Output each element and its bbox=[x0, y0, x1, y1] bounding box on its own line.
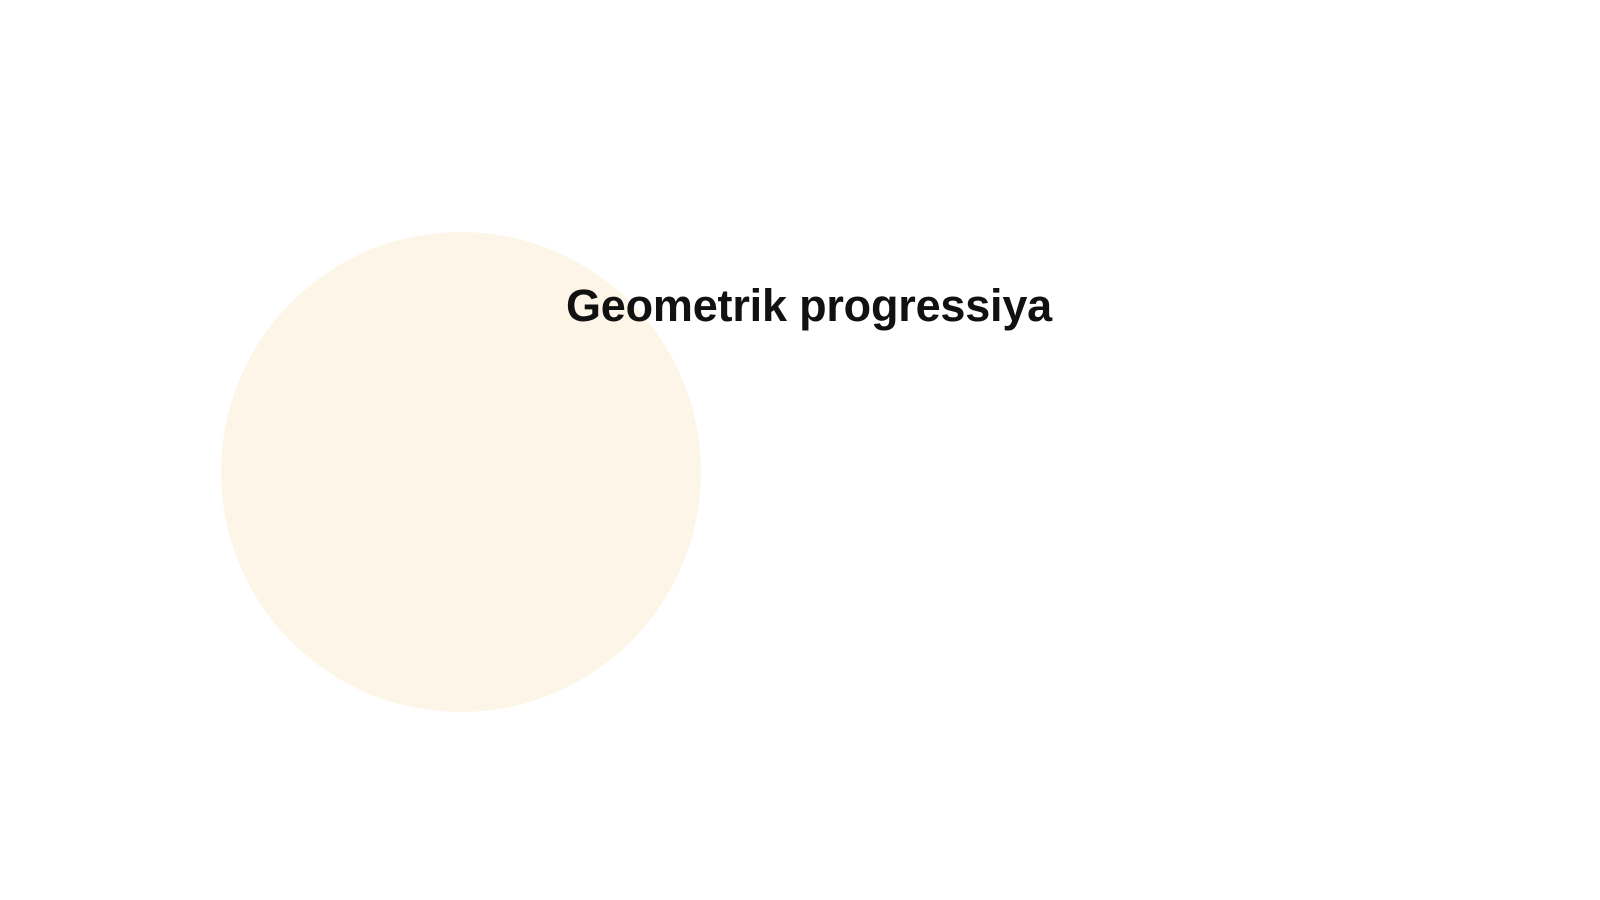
slide-canvas: Geometrik progressiya bbox=[0, 0, 1600, 900]
page-title: Geometrik progressiya bbox=[566, 278, 1052, 334]
